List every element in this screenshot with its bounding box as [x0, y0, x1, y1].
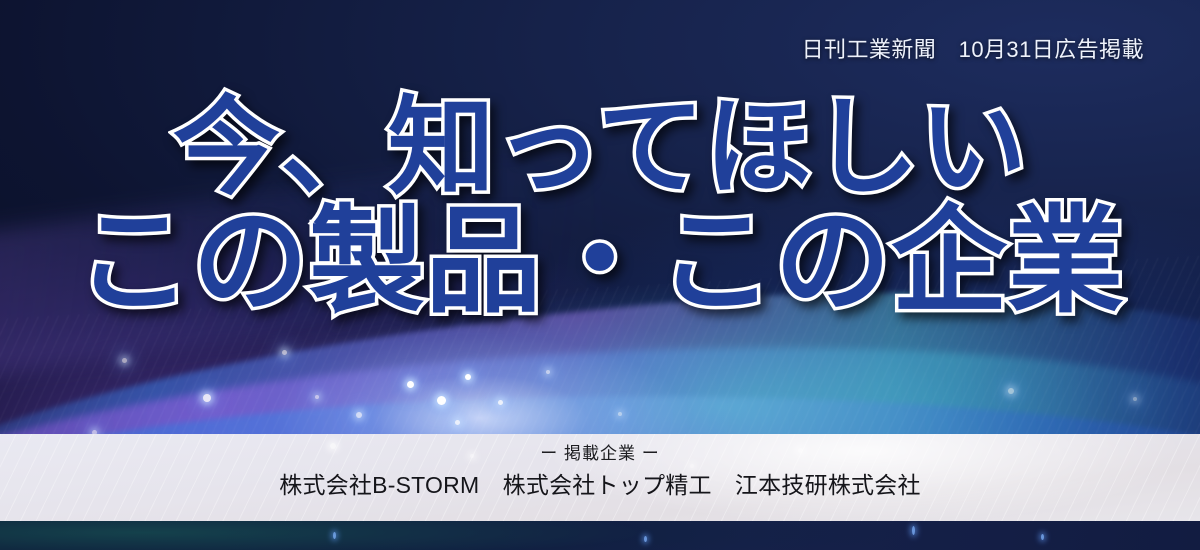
- sparkle-dot: [356, 412, 362, 418]
- headline-line-1: 今、知ってほしい: [0, 96, 1200, 201]
- sparkle-dot: [203, 394, 211, 402]
- sparkle-dot: [455, 420, 460, 425]
- bottom-strip-dot: [333, 532, 336, 539]
- sparkle-dot: [1133, 397, 1137, 401]
- sparkle-dot: [282, 350, 287, 355]
- bottom-strip: [0, 521, 1200, 550]
- headline: 今、知ってほしい この製品・この企業: [0, 96, 1200, 319]
- headline-line-2: この製品・この企業: [0, 205, 1200, 319]
- publication-note: 日刊工業新聞 10月31日広告掲載: [802, 32, 1144, 64]
- bottom-strip-dot: [1041, 534, 1044, 540]
- sparkle-dot: [498, 400, 503, 405]
- footer-band: ー 掲載企業 ー 株式会社B-STORM 株式会社トップ精工 江本技研株式会社: [0, 434, 1200, 521]
- footer-section-label: ー 掲載企業 ー: [0, 443, 1200, 466]
- bottom-strip-dot: [912, 526, 915, 535]
- sparkle-dot: [122, 358, 127, 363]
- sparkle-dot: [315, 395, 319, 399]
- sparkle-dot: [618, 412, 622, 416]
- bottom-strip-dot: [644, 536, 647, 542]
- footer-company-list: 株式会社B-STORM 株式会社トップ精工 江本技研株式会社: [0, 471, 1200, 501]
- sparkle-dot: [437, 396, 446, 405]
- advertisement-banner: 日刊工業新聞 10月31日広告掲載 今、知ってほしい この製品・この企業 ー 掲…: [0, 0, 1200, 550]
- sparkle-dot: [1008, 388, 1014, 394]
- sparkle-dot: [407, 381, 414, 388]
- sparkle-dot: [465, 374, 471, 380]
- sparkle-dot: [546, 370, 550, 374]
